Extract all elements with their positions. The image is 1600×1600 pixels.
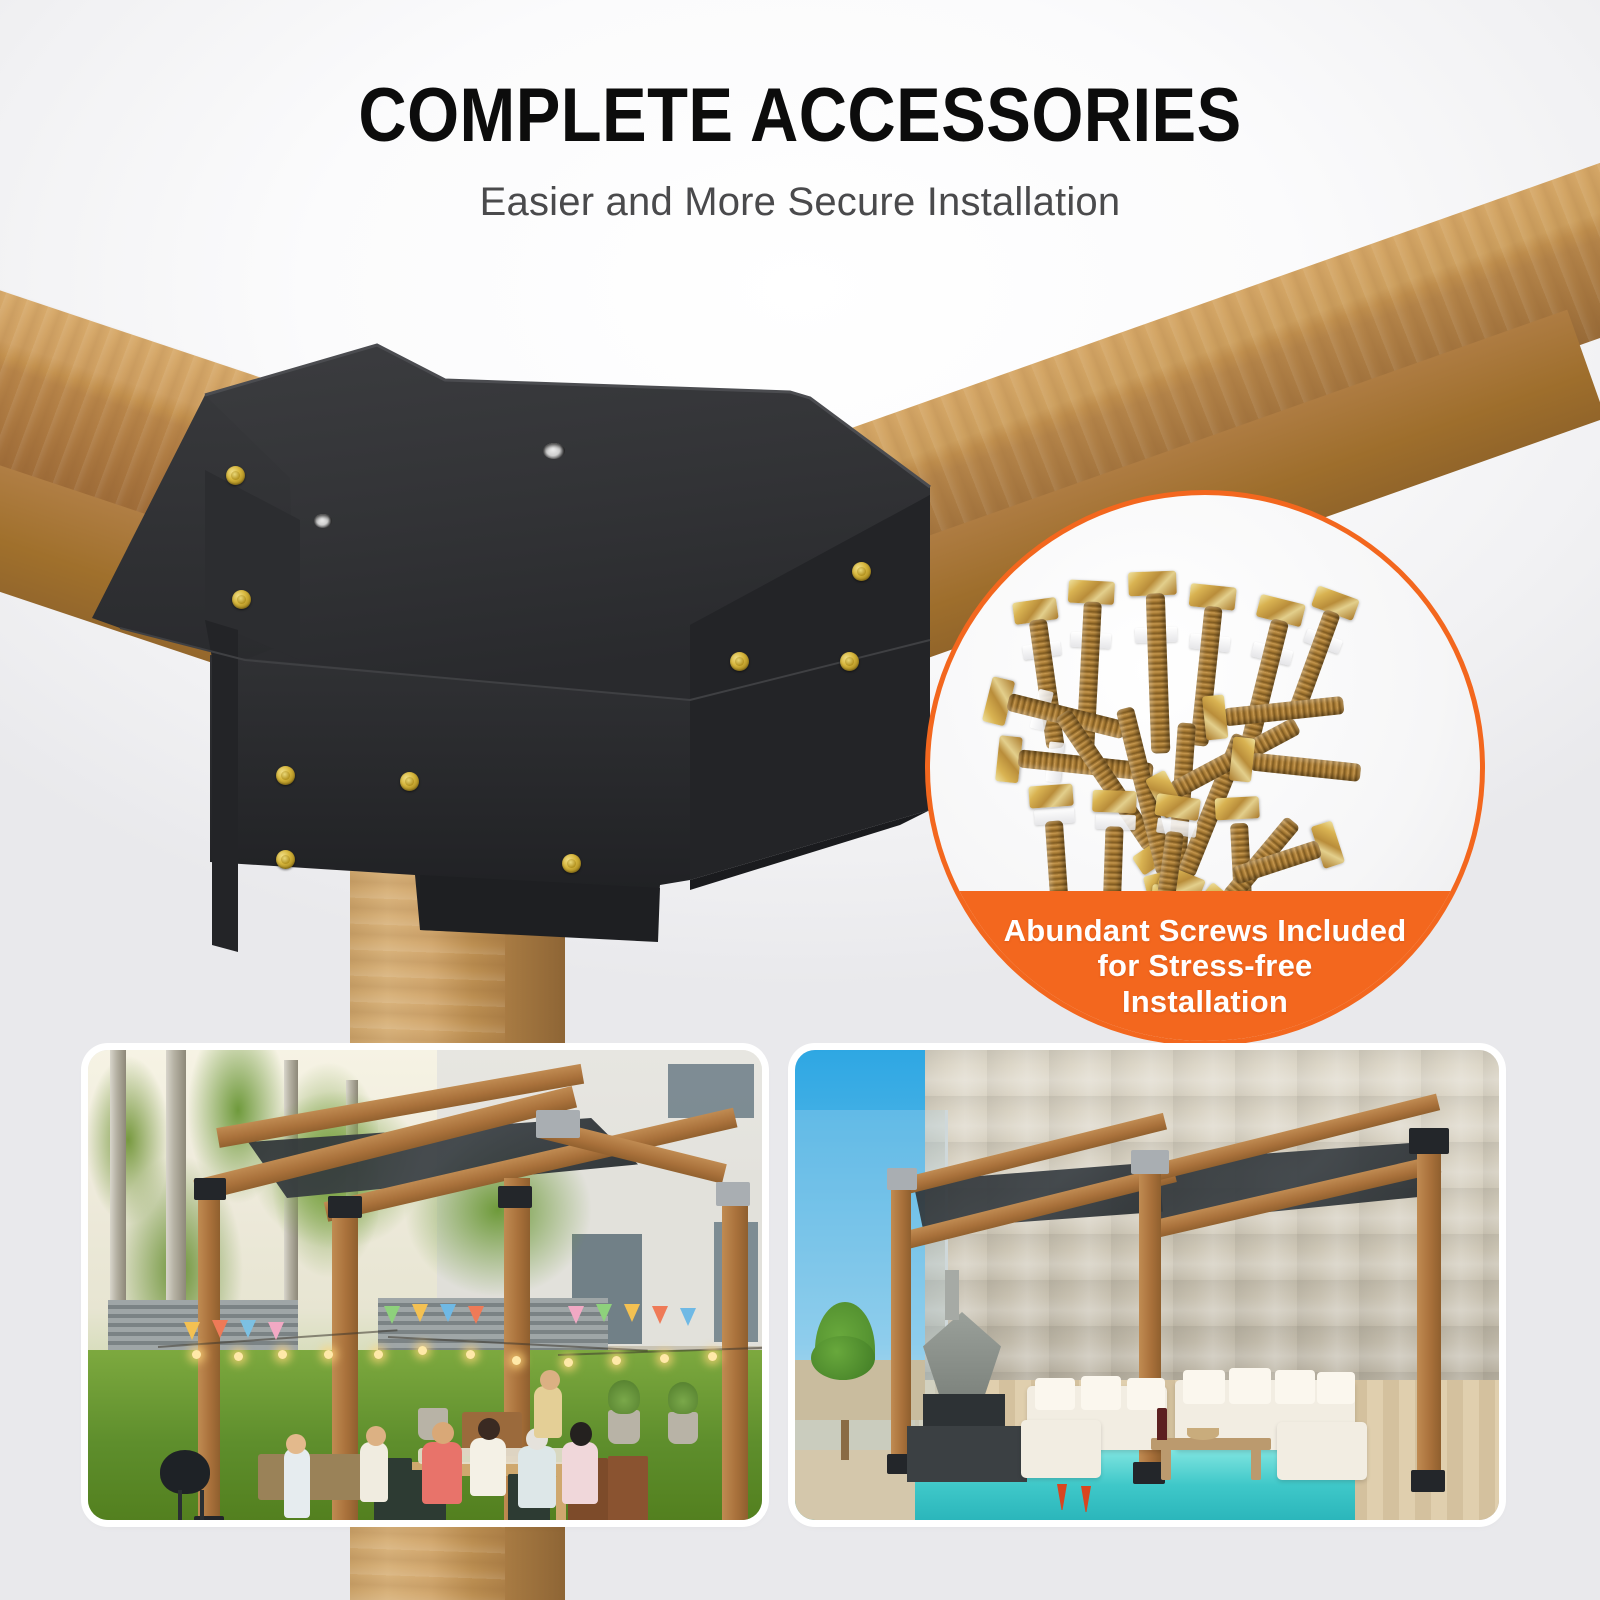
- bunting-flag: [212, 1320, 228, 1338]
- sofa-cushion: [1127, 1378, 1165, 1410]
- outdoor-armchair: [1277, 1422, 1367, 1480]
- pergola-bracket-connector: [716, 1182, 750, 1206]
- screw-shank: [1146, 593, 1171, 754]
- planter-shrub: [608, 1380, 640, 1414]
- string-light-bulb: [234, 1352, 243, 1361]
- coffee-table-leg: [1251, 1448, 1261, 1480]
- brass-screw: [276, 766, 295, 785]
- bunting-flag: [440, 1304, 456, 1322]
- outdoor-armchair: [1021, 1420, 1101, 1478]
- string-light-bulb: [660, 1354, 669, 1363]
- screw-head: [1028, 783, 1073, 808]
- string-light-bulb: [324, 1350, 333, 1359]
- bunting-flag: [468, 1306, 484, 1324]
- pergola-post: [722, 1198, 748, 1520]
- banner-line-2: for Stress-free: [1098, 948, 1313, 983]
- pergola-bracket-connector: [1131, 1150, 1169, 1174]
- person-adult: [518, 1446, 556, 1508]
- sofa-cushion: [1275, 1370, 1315, 1404]
- brass-screw: [400, 772, 419, 791]
- photo-backyard-party: [88, 1050, 762, 1520]
- brass-screw: [562, 854, 581, 873]
- house-window: [668, 1064, 754, 1118]
- pergola-post-base: [1411, 1470, 1445, 1492]
- pergola-bracket-connector: [328, 1196, 362, 1218]
- person-head: [366, 1426, 386, 1446]
- person-child: [360, 1442, 388, 1502]
- bunting-flag: [184, 1322, 200, 1340]
- string-light-bulb: [374, 1350, 383, 1359]
- brass-screw: [226, 466, 245, 485]
- banner-line-3: Installation: [1122, 984, 1288, 1019]
- bunting-flag: [412, 1304, 428, 1322]
- fireplace-chimney: [945, 1270, 959, 1320]
- person-head: [286, 1434, 306, 1454]
- pergola-bracket-connector: [498, 1186, 532, 1208]
- gallery-photo-poolside-patio[interactable]: [795, 1050, 1499, 1520]
- person-head: [478, 1418, 500, 1440]
- string-light-bulb: [192, 1350, 201, 1359]
- screw-head: [1128, 570, 1177, 596]
- string-light-bulb: [512, 1356, 521, 1365]
- planter-shrub: [668, 1382, 698, 1414]
- string-light-bulb: [278, 1350, 287, 1359]
- screw-head: [1068, 579, 1115, 604]
- screw-shank: [1029, 618, 1065, 749]
- bracket-left-skirt: [205, 620, 238, 952]
- planter-pot: [608, 1410, 640, 1444]
- string-light-bulb: [708, 1352, 717, 1361]
- gallery-row: [0, 1050, 1600, 1550]
- bunting-flag: [268, 1322, 284, 1340]
- sofa-cushion: [1081, 1376, 1121, 1410]
- fruit-bowl: [1187, 1428, 1219, 1440]
- sofa-cushion: [1035, 1378, 1075, 1410]
- grill-leg: [178, 1490, 182, 1520]
- bunting-flag: [596, 1304, 612, 1322]
- screw-pile-photo: [990, 562, 1420, 942]
- bunting-flag: [652, 1306, 668, 1324]
- brass-screw: [276, 850, 295, 869]
- page-title: COMPLETE ACCESSORIES: [96, 78, 1504, 154]
- inset-banner: Abundant Screws Included for Stress-free…: [930, 891, 1480, 1041]
- pergola-bracket-connector: [194, 1178, 226, 1200]
- header-block: COMPLETE ACCESSORIES Easier and More Sec…: [0, 78, 1600, 225]
- planter-greenery: [811, 1336, 875, 1380]
- fireplace-base: [907, 1426, 1027, 1482]
- bunting-flag: [680, 1308, 696, 1326]
- pilot-hole: [543, 443, 565, 459]
- brass-screw: [852, 562, 871, 581]
- person-adult: [422, 1442, 462, 1504]
- string-light-bulb: [418, 1346, 427, 1355]
- bunting-flag: [568, 1306, 584, 1324]
- person-adult: [562, 1442, 598, 1504]
- person-child: [284, 1448, 310, 1518]
- bunting-flag: [384, 1306, 400, 1324]
- screw-head: [1154, 793, 1201, 821]
- grill-leg: [200, 1490, 204, 1520]
- string-light-bulb: [612, 1356, 621, 1365]
- planter-pot: [668, 1412, 698, 1444]
- pilot-hole: [314, 514, 332, 528]
- screw-head: [1229, 736, 1255, 782]
- page-subtitle: Easier and More Secure Installation: [0, 180, 1600, 225]
- string-light-bulb: [466, 1350, 475, 1359]
- string-light-bulb: [564, 1358, 573, 1367]
- folding-chair: [608, 1456, 648, 1520]
- screws-inset-circle: Abundant Screws Included for Stress-free…: [925, 490, 1485, 1046]
- banner-line-1: Abundant Screws Included: [1004, 913, 1407, 948]
- product-infographic: COMPLETE ACCESSORIES Easier and More Sec…: [0, 0, 1600, 1600]
- fireplace-firebox: [923, 1394, 1005, 1428]
- garden-bench: [258, 1454, 368, 1500]
- photo-poolside-patio: [795, 1050, 1499, 1520]
- person-head: [570, 1422, 592, 1446]
- pergola-bracket-connector: [1409, 1128, 1449, 1154]
- screw-head: [1092, 789, 1137, 813]
- person-head: [432, 1422, 454, 1444]
- pergola-bracket-connector: [536, 1110, 580, 1138]
- pergola-bracket-connector: [887, 1168, 917, 1190]
- person-adult: [470, 1438, 506, 1496]
- screw-head: [1215, 796, 1260, 820]
- wine-bottle: [1157, 1408, 1167, 1440]
- pergola-post-base: [194, 1516, 224, 1520]
- pergola-post: [1417, 1140, 1441, 1480]
- person-head: [540, 1370, 560, 1390]
- coffee-table-leg: [1161, 1448, 1171, 1480]
- screw-shank: [1250, 752, 1361, 781]
- person-standing: [534, 1386, 562, 1438]
- brass-screw: [730, 652, 749, 671]
- screw-head: [1202, 694, 1228, 740]
- bunting-flag: [624, 1304, 640, 1322]
- bbq-grill: [160, 1450, 210, 1494]
- brass-screw: [232, 590, 251, 609]
- sofa-cushion: [1183, 1370, 1225, 1404]
- sofa-cushion: [1229, 1368, 1271, 1404]
- bunting-flag: [240, 1320, 256, 1338]
- brass-screw: [840, 652, 859, 671]
- gallery-photo-backyard-party[interactable]: [88, 1050, 762, 1520]
- sofa-cushion: [1317, 1372, 1355, 1404]
